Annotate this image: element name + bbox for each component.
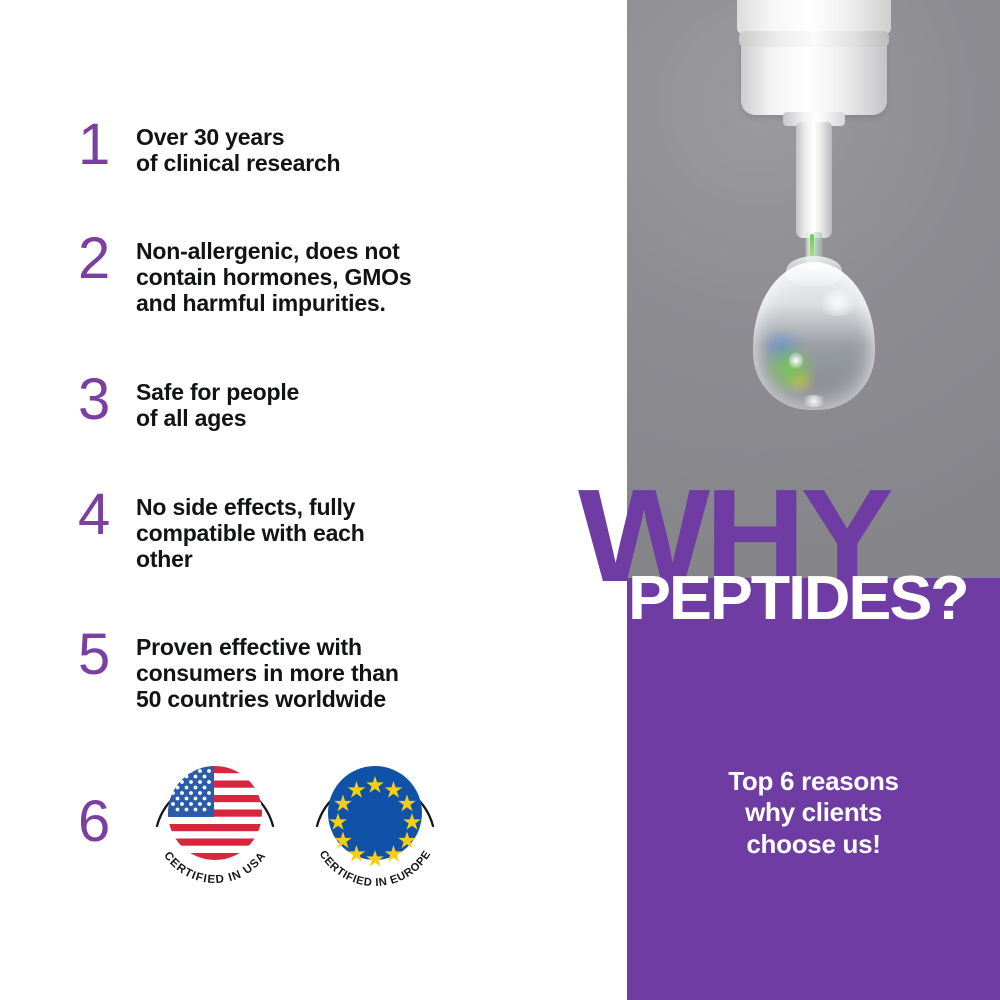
- certification-badges: CERTIFIED IN USA: [140, 748, 500, 898]
- list-item-number: 4: [78, 488, 136, 541]
- list-item: 3 Safe for people of all ages: [78, 373, 299, 431]
- list-item-number: 2: [78, 232, 136, 285]
- dropper-cap-ring: [739, 31, 889, 47]
- tagline: Top 6 reasons why clients choose us!: [627, 766, 1000, 860]
- droplet-highlight-spark: [788, 352, 803, 369]
- eu-flag-icon: CERTIFIED IN EUROPE: [300, 748, 450, 898]
- headline-peptides: PEPTIDES?: [628, 568, 968, 630]
- list-item-number: 1: [78, 118, 136, 171]
- list-item-number: 3: [78, 373, 136, 426]
- dropper-nozzle: [796, 122, 832, 238]
- list-item-text: Safe for people of all ages: [136, 373, 299, 431]
- reasons-list: 1 Over 30 years of clinical research 2 N…: [0, 0, 627, 1000]
- list-item: 5 Proven effective with consumers in mor…: [78, 628, 399, 713]
- certified-in-usa-badge: CERTIFIED IN USA: [140, 748, 290, 898]
- droplet-base-highlight: [801, 395, 827, 407]
- list-item: 1 Over 30 years of clinical research: [78, 118, 340, 176]
- droplet-highlight-upper: [816, 290, 860, 316]
- list-item-text: Non-allergenic, does not contain hormone…: [136, 232, 411, 317]
- certified-in-europe-badge: CERTIFIED IN EUROPE: [300, 748, 450, 898]
- list-item: 2 Non-allergenic, does not contain hormo…: [78, 232, 411, 317]
- tagline-line-1: Top 6 reasons: [627, 766, 1000, 797]
- list-item-text: Over 30 years of clinical research: [136, 118, 340, 176]
- list-item: 4 No side effects, fully compatible with…: [78, 488, 365, 573]
- dropper-cap-top: [737, 0, 891, 34]
- usa-flag-icon: CERTIFIED IN USA: [140, 748, 290, 898]
- list-item-text: No side effects, fully compatible with e…: [136, 488, 365, 573]
- list-item-number: 5: [78, 628, 136, 681]
- tagline-line-3: choose us!: [627, 829, 1000, 860]
- infographic-page: WHY PEPTIDES? Top 6 reasons why clients …: [0, 0, 1000, 1000]
- list-item-number: 6: [78, 795, 136, 848]
- list-item: 6: [78, 795, 136, 848]
- list-item-text: Proven effective with consumers in more …: [136, 628, 399, 713]
- tagline-line-2: why clients: [627, 797, 1000, 828]
